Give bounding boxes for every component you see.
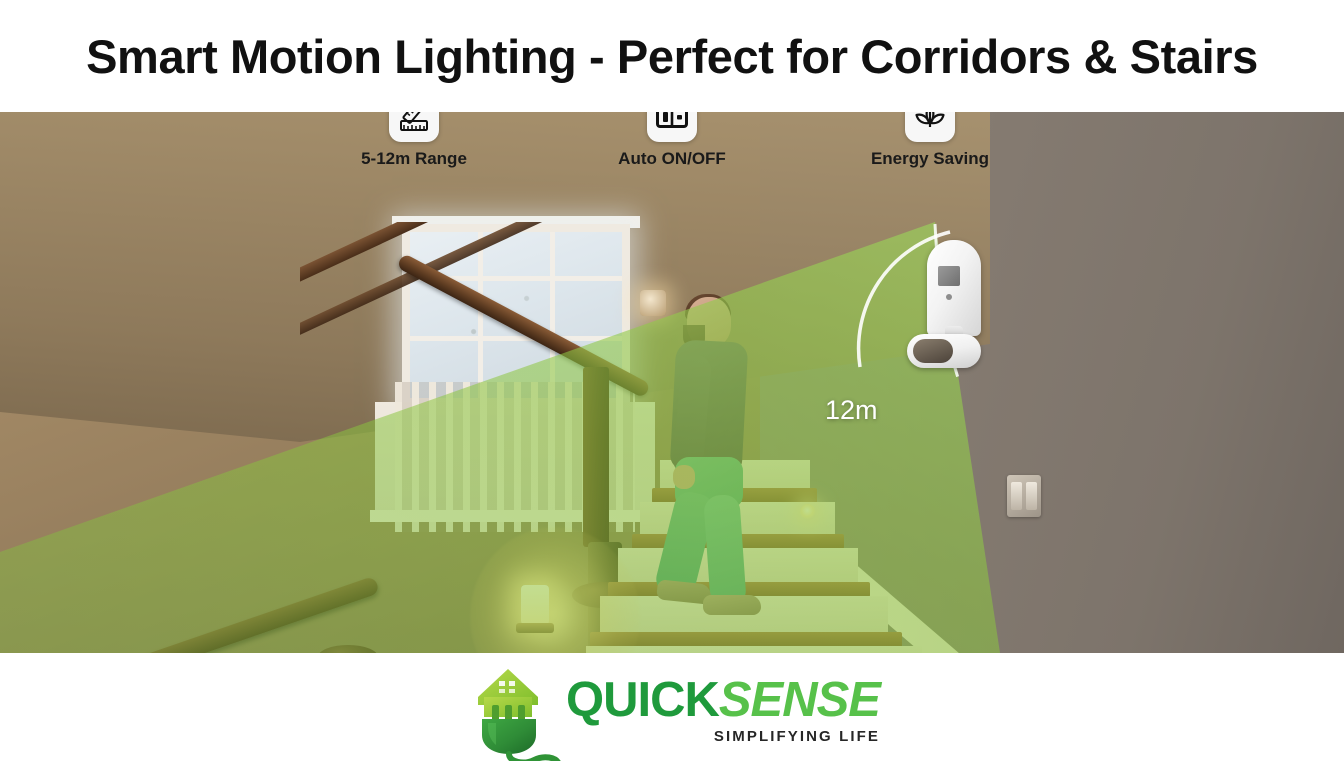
feature-energy-saving[interactable]: Energy Saving [845,112,1015,182]
range-label: 12m [825,395,878,426]
person-on-stairs [655,297,775,607]
light-switch-rocker[interactable] [1026,482,1037,510]
light-switch-icon [647,112,697,142]
sensor-display [938,266,960,286]
header-bar: Smart Motion Lighting - Perfect for Corr… [0,0,1344,112]
product-scene-image: 12m [0,112,1344,653]
wall-sconce [521,585,549,625]
light-switch-plate[interactable] [1007,475,1041,517]
page-title: Smart Motion Lighting - Perfect for Corr… [86,29,1258,84]
lower-handrail-group [0,592,400,653]
stair-riser [586,646,922,653]
person-hand [673,465,695,489]
footer-bar: QUICKSENSE SIMPLIFYING LIFE [0,653,1344,768]
sensor-led-icon [946,294,952,300]
feature-label: 5-12m Range [361,149,467,169]
leaf-icon [905,112,955,142]
brand-tagline: SIMPLIFYING LIFE [714,728,880,745]
house-plug-logo-icon [464,661,564,761]
pir-motion-sensor[interactable] [905,240,985,365]
feature-badges: 5-12m Range Auto ON/OFF [0,112,1344,182]
brand-name-sense: SENSE [719,673,880,727]
brand-name-quick: QUICK [566,673,719,727]
person-shoe-front [703,595,761,615]
ruler-icon [389,112,439,142]
sensor-housing [927,240,981,336]
wall-sconce-base [516,623,554,633]
recessed-step-light [800,504,816,520]
feature-label: Auto ON/OFF [618,149,726,169]
brand-name: QUICKSENSE [566,676,880,725]
sensor-lens [913,339,953,363]
brand-logo[interactable]: QUICKSENSE SIMPLIFYING LIFE [464,661,880,761]
light-switch-rocker[interactable] [1011,482,1022,510]
feature-label: Energy Saving [871,149,989,169]
feature-range[interactable]: 5-12m Range [329,112,499,182]
product-banner: Smart Motion Lighting - Perfect for Corr… [0,0,1344,768]
brand-wordmark: QUICKSENSE SIMPLIFYING LIFE [566,676,880,745]
main-handrail [396,253,651,399]
feature-auto-onoff[interactable]: Auto ON/OFF [587,112,757,182]
